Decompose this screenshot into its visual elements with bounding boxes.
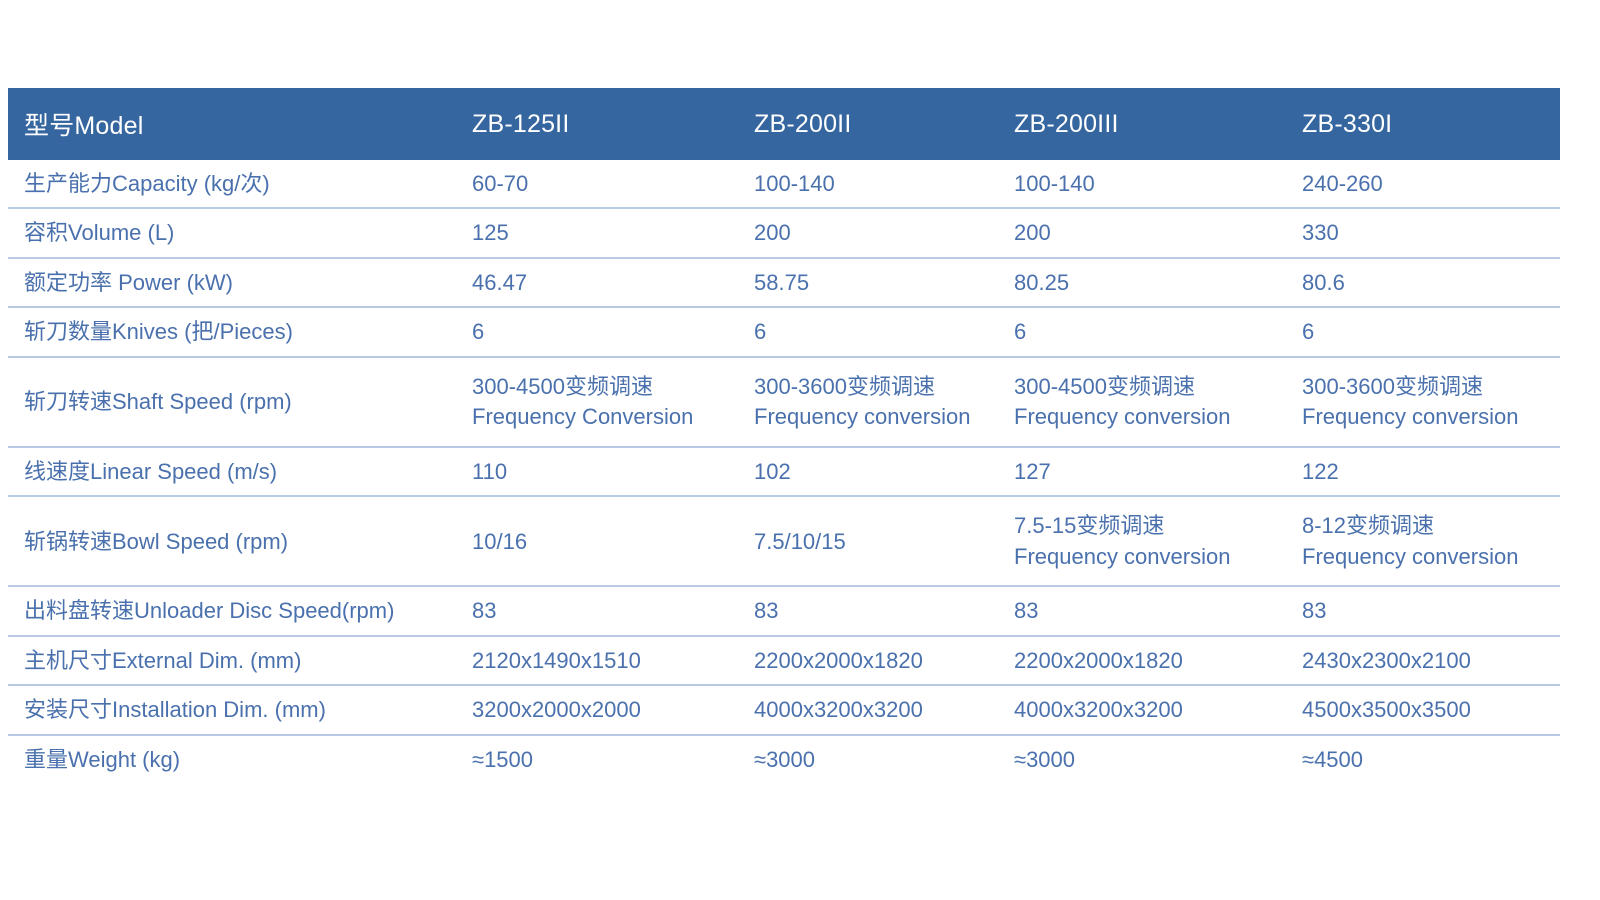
cell-value-line: 6 [754,317,990,346]
table-row: 斩刀转速Shaft Speed (rpm)300-4500变频调速Frequen… [8,357,1560,447]
specification-table-container: 型号Model ZB-125II ZB-200II ZB-200III ZB-3… [8,88,1560,783]
cell-value-line: 102 [754,457,990,486]
cell-value: 3200x2000x2000 [458,685,740,734]
cell-value: ≈4500 [1288,735,1560,783]
cell-value-line: Frequency conversion [1014,542,1278,571]
cell-value-line: 2120x1490x1510 [472,646,730,675]
row-label: 容积Volume (L) [8,208,458,257]
cell-value-line: 200 [754,218,990,247]
row-label: 额定功率 Power (kW) [8,258,458,307]
table-header: 型号Model ZB-125II ZB-200II ZB-200III ZB-3… [8,88,1560,160]
column-header-model-label: 型号Model [8,88,458,160]
cell-value-line: Frequency conversion [1302,402,1550,431]
cell-value-line: 7.5/10/15 [754,527,990,556]
cell-value: 80.6 [1288,258,1560,307]
cell-value-line: Frequency conversion [1014,402,1278,431]
cell-value: 2430x2300x2100 [1288,636,1560,685]
cell-value-line: Frequency Conversion [472,402,730,431]
cell-value-line: 4500x3500x3500 [1302,695,1550,724]
row-label: 线速度Linear Speed (m/s) [8,447,458,496]
cell-value-line: Frequency conversion [1302,542,1550,571]
row-label: 生产能力Capacity (kg/次) [8,160,458,208]
table-row: 重量Weight (kg)≈1500≈3000≈3000≈4500 [8,735,1560,783]
cell-value-line: 300-3600变频调速 [754,372,990,401]
cell-value-line: 100-140 [754,169,990,198]
cell-value: 83 [740,586,1000,635]
cell-value-line: 200 [1014,218,1278,247]
cell-value-line: Frequency conversion [754,402,990,431]
cell-value-line: 58.75 [754,268,990,297]
cell-value-line: ≈1500 [472,745,730,774]
cell-value-line: 83 [472,596,730,625]
table-row: 斩刀数量Knives (把/Pieces)6666 [8,307,1560,356]
cell-value-line: 60-70 [472,169,730,198]
table-row: 生产能力Capacity (kg/次)60-70100-140100-14024… [8,160,1560,208]
cell-value-line: 122 [1302,457,1550,486]
cell-value-line: 6 [472,317,730,346]
row-label: 斩锅转速Bowl Speed (rpm) [8,496,458,586]
row-label: 主机尺寸External Dim. (mm) [8,636,458,685]
cell-value: 127 [1000,447,1288,496]
cell-value-line: 3200x2000x2000 [472,695,730,724]
cell-value: 7.5/10/15 [740,496,1000,586]
cell-value: 46.47 [458,258,740,307]
cell-value: 83 [458,586,740,635]
cell-value: 4000x3200x3200 [740,685,1000,734]
cell-value: 330 [1288,208,1560,257]
cell-value-line: 2430x2300x2100 [1302,646,1550,675]
cell-value-line: 83 [1014,596,1278,625]
cell-value: 300-3600变频调速Frequency conversion [1288,357,1560,447]
cell-value: 83 [1288,586,1560,635]
row-label: 重量Weight (kg) [8,735,458,783]
table-row: 出料盘转速Unloader Disc Speed(rpm)83838383 [8,586,1560,635]
specification-table: 型号Model ZB-125II ZB-200II ZB-200III ZB-3… [8,88,1560,783]
column-header-model-2: ZB-200II [740,88,1000,160]
cell-value-line: 83 [754,596,990,625]
cell-value-line: ≈3000 [754,745,990,774]
table-header-row: 型号Model ZB-125II ZB-200II ZB-200III ZB-3… [8,88,1560,160]
cell-value-line: 2200x2000x1820 [754,646,990,675]
cell-value-line: 7.5-15变频调速 [1014,511,1278,540]
cell-value-line: 10/16 [472,527,730,556]
cell-value-line: 240-260 [1302,169,1550,198]
table-row: 容积Volume (L)125200200330 [8,208,1560,257]
cell-value: 102 [740,447,1000,496]
cell-value: 4000x3200x3200 [1000,685,1288,734]
cell-value-line: 100-140 [1014,169,1278,198]
table-row: 安装尺寸Installation Dim. (mm)3200x2000x2000… [8,685,1560,734]
cell-value-line: 83 [1302,596,1550,625]
cell-value: 240-260 [1288,160,1560,208]
cell-value-line: 125 [472,218,730,247]
cell-value: 200 [1000,208,1288,257]
cell-value: 6 [740,307,1000,356]
cell-value: 122 [1288,447,1560,496]
cell-value-line: 330 [1302,218,1550,247]
cell-value: 2120x1490x1510 [458,636,740,685]
cell-value: ≈1500 [458,735,740,783]
cell-value: 110 [458,447,740,496]
cell-value-line: 46.47 [472,268,730,297]
table-row: 线速度Linear Speed (m/s)110102127122 [8,447,1560,496]
cell-value-line: ≈4500 [1302,745,1550,774]
column-header-model-4: ZB-330I [1288,88,1560,160]
cell-value: 58.75 [740,258,1000,307]
cell-value: 2200x2000x1820 [1000,636,1288,685]
cell-value: 200 [740,208,1000,257]
cell-value: 10/16 [458,496,740,586]
cell-value: 6 [1000,307,1288,356]
row-label: 斩刀转速Shaft Speed (rpm) [8,357,458,447]
column-header-model-1: ZB-125II [458,88,740,160]
cell-value: 300-3600变频调速Frequency conversion [740,357,1000,447]
row-label: 斩刀数量Knives (把/Pieces) [8,307,458,356]
table-row: 斩锅转速Bowl Speed (rpm)10/167.5/10/157.5-15… [8,496,1560,586]
cell-value-line: 127 [1014,457,1278,486]
cell-value-line: 8-12变频调速 [1302,511,1550,540]
table-row: 额定功率 Power (kW)46.4758.7580.2580.6 [8,258,1560,307]
cell-value-line: 6 [1302,317,1550,346]
cell-value: 6 [1288,307,1560,356]
cell-value: 300-4500变频调速Frequency conversion [1000,357,1288,447]
cell-value: 8-12变频调速Frequency conversion [1288,496,1560,586]
cell-value-line: 4000x3200x3200 [1014,695,1278,724]
cell-value-line: 4000x3200x3200 [754,695,990,724]
cell-value: ≈3000 [1000,735,1288,783]
cell-value-line: 2200x2000x1820 [1014,646,1278,675]
table-body: 生产能力Capacity (kg/次)60-70100-140100-14024… [8,160,1560,783]
cell-value: 125 [458,208,740,257]
cell-value: 2200x2000x1820 [740,636,1000,685]
cell-value: 6 [458,307,740,356]
row-label: 安装尺寸Installation Dim. (mm) [8,685,458,734]
cell-value-line: 6 [1014,317,1278,346]
cell-value: 7.5-15变频调速Frequency conversion [1000,496,1288,586]
row-label: 出料盘转速Unloader Disc Speed(rpm) [8,586,458,635]
cell-value-line: 80.25 [1014,268,1278,297]
column-header-model-3: ZB-200III [1000,88,1288,160]
cell-value: 300-4500变频调速Frequency Conversion [458,357,740,447]
cell-value-line: 300-4500变频调速 [472,372,730,401]
cell-value: 60-70 [458,160,740,208]
cell-value: 4500x3500x3500 [1288,685,1560,734]
cell-value-line: 110 [472,457,730,486]
cell-value: 83 [1000,586,1288,635]
cell-value: ≈3000 [740,735,1000,783]
cell-value-line: 80.6 [1302,268,1550,297]
cell-value: 80.25 [1000,258,1288,307]
cell-value-line: 300-4500变频调速 [1014,372,1278,401]
cell-value: 100-140 [740,160,1000,208]
table-row: 主机尺寸External Dim. (mm)2120x1490x15102200… [8,636,1560,685]
cell-value: 100-140 [1000,160,1288,208]
cell-value-line: ≈3000 [1014,745,1278,774]
cell-value-line: 300-3600变频调速 [1302,372,1550,401]
